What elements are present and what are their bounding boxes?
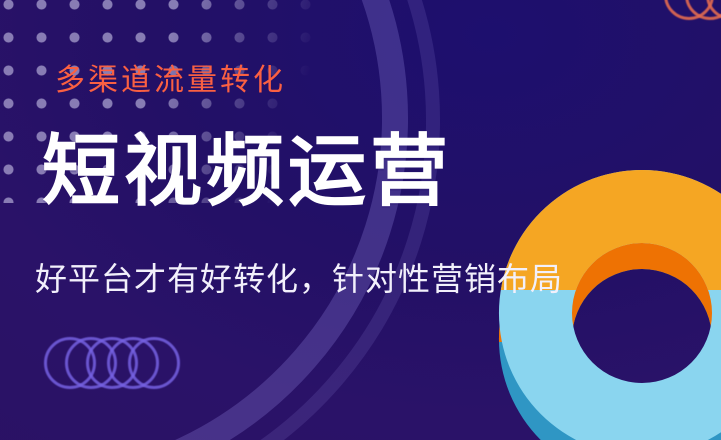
banner-kicker: 多渠道流量转化 (55, 66, 286, 96)
banner-subline: 好平台才有好转化，针对性营销布局 (35, 261, 563, 298)
promo-banner: 多渠道流量转化 短视频运营 好平台才有好转化，针对性营销布局 (0, 0, 721, 440)
banner-copy: 多渠道流量转化 短视频运营 好平台才有好转化，针对性营销布局 (0, 0, 721, 440)
banner-headline: 短视频运营 (42, 132, 452, 210)
